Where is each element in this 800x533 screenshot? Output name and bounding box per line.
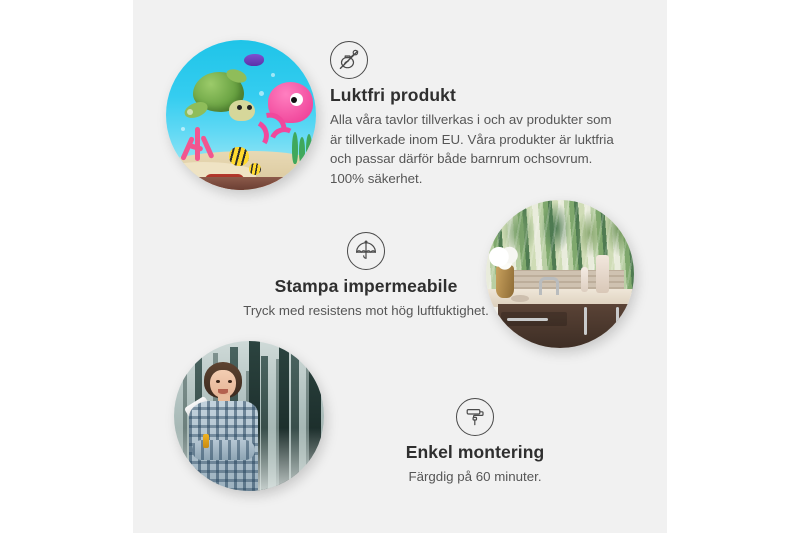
feature-title: Luktfri produkt bbox=[330, 85, 625, 106]
yellow-fish-large bbox=[229, 147, 249, 167]
forest-mural-scene bbox=[174, 341, 324, 491]
umbrella-icon bbox=[347, 232, 385, 270]
content-panel: Luktfri produkt Alla våra tavlor tillver… bbox=[133, 0, 667, 533]
seaweed bbox=[291, 132, 311, 168]
sea-bottom-dark bbox=[166, 177, 316, 191]
woman-eye-left bbox=[216, 380, 220, 383]
paint-roller-icon bbox=[456, 398, 494, 436]
underwater-cartoon-circle-image bbox=[166, 40, 316, 190]
feature-block-easy-installation: Enkel montering Färgdig på 60 minuter. bbox=[330, 398, 620, 487]
wooden-vanity bbox=[498, 304, 634, 348]
drawer-handle bbox=[507, 318, 548, 321]
bubble-1 bbox=[187, 109, 193, 115]
woman-with-paint-roller-circle-image bbox=[174, 341, 324, 491]
feature-description: Alla våra tavlor tillverkas i och av pro… bbox=[330, 110, 625, 188]
cabinet-handle-right bbox=[616, 307, 619, 335]
cabinet-handle-left bbox=[584, 307, 587, 335]
bubble-2 bbox=[181, 127, 185, 131]
soap-dish bbox=[511, 295, 529, 302]
pink-coral bbox=[180, 127, 216, 169]
screenshot-root: Luktfri produkt Alla våra tavlor tillver… bbox=[0, 0, 800, 533]
woman-smile bbox=[218, 389, 229, 394]
small-bottle bbox=[581, 267, 588, 292]
purple-fish bbox=[244, 54, 264, 66]
bubble-3 bbox=[259, 91, 264, 96]
feature-description: Färgdig på 60 minuter. bbox=[330, 467, 620, 487]
woman-eye-right bbox=[228, 380, 232, 383]
turtle-eye-right bbox=[247, 105, 252, 110]
feature-title: Enkel montering bbox=[330, 442, 620, 463]
bubble-4 bbox=[271, 73, 275, 77]
underwater-scene bbox=[166, 40, 316, 190]
woman-crossed-arms bbox=[192, 440, 255, 460]
feature-title: Stampa impermeabile bbox=[221, 276, 511, 297]
faucet bbox=[539, 277, 558, 295]
feature-block-odour-free: Luktfri produkt Alla våra tavlor tillver… bbox=[330, 41, 625, 188]
no-fragrance-icon bbox=[330, 41, 368, 79]
yellow-fish-small bbox=[249, 163, 261, 175]
feature-description: Tryck med resistens mot hög luftfuktighe… bbox=[221, 301, 511, 321]
paint-roller-grip bbox=[203, 434, 209, 448]
feature-block-waterproof-print: Stampa impermeabile Tryck med resistens … bbox=[221, 232, 511, 321]
turtle-eye-left bbox=[237, 105, 242, 110]
tall-bottle bbox=[596, 255, 609, 293]
woman-face bbox=[210, 370, 236, 399]
